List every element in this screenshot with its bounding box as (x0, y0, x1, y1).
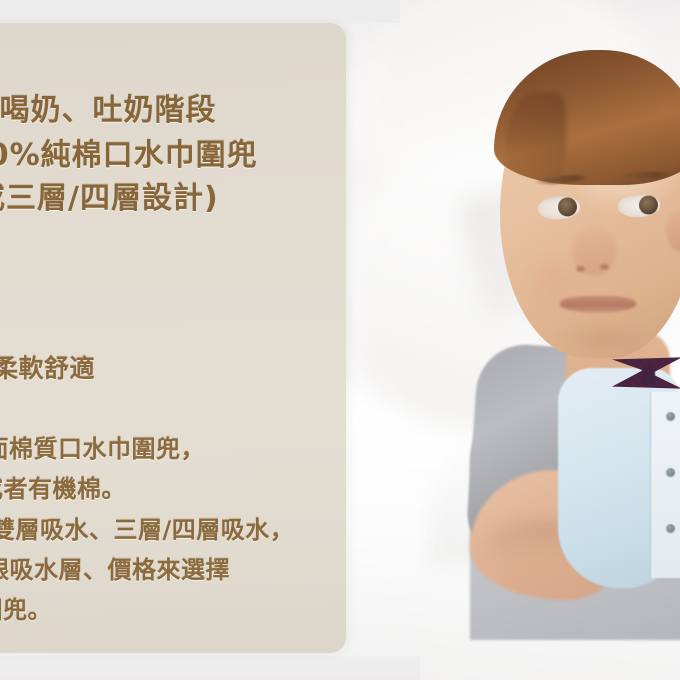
iris-right (639, 195, 659, 215)
bowtie-knot (642, 364, 655, 384)
baby-hair-wisp (506, 92, 566, 187)
bib-placket (650, 392, 680, 578)
bib-button-3 (666, 524, 675, 533)
bib-button-2 (666, 468, 675, 477)
body-line-3: 則有雙層吸水、三層/四層吸水， (0, 510, 294, 545)
product-infographic: 段: 喝奶、吐奶階段 100%純棉口水巾圍兜 層或三層/四層設計) 細緻 吸水層… (0, 0, 680, 680)
top-edge-strip (0, 0, 400, 23)
baby-mouth (560, 296, 636, 313)
body-line-5: 的圍兜。 (0, 590, 52, 625)
feature-line-3: 水力，愈洗愈柔軟舒適 (0, 349, 95, 385)
text-panel-content: 段: 喝奶、吐奶階段 100%純棉口水巾圍兜 層或三層/四層設計) 細緻 吸水層… (0, 23, 346, 653)
body-line-4: 材質跟吸水層、價格來選擇 (0, 550, 230, 585)
body-line-1: 雙面棉質口水巾圍兜， (0, 429, 205, 464)
text-panel: 段: 喝奶、吐奶階段 100%純棉口水巾圍兜 層或三層/四層設計) 細緻 吸水層… (0, 23, 346, 653)
bottom-edge-strip (0, 656, 420, 680)
heading-line-3: 層或三層/四層設計) (0, 173, 219, 217)
heading-line-2: 100%純棉口水巾圍兜 (0, 130, 258, 174)
baby-chin-shadow (556, 322, 648, 356)
body-line-2: 純棉或者有機棉。 (0, 469, 126, 504)
nostril-left (576, 266, 585, 272)
bib-button-1 (666, 412, 675, 421)
heading-line-1: 段: 喝奶、吐奶階段 (0, 85, 216, 129)
nostril-right (600, 264, 609, 270)
